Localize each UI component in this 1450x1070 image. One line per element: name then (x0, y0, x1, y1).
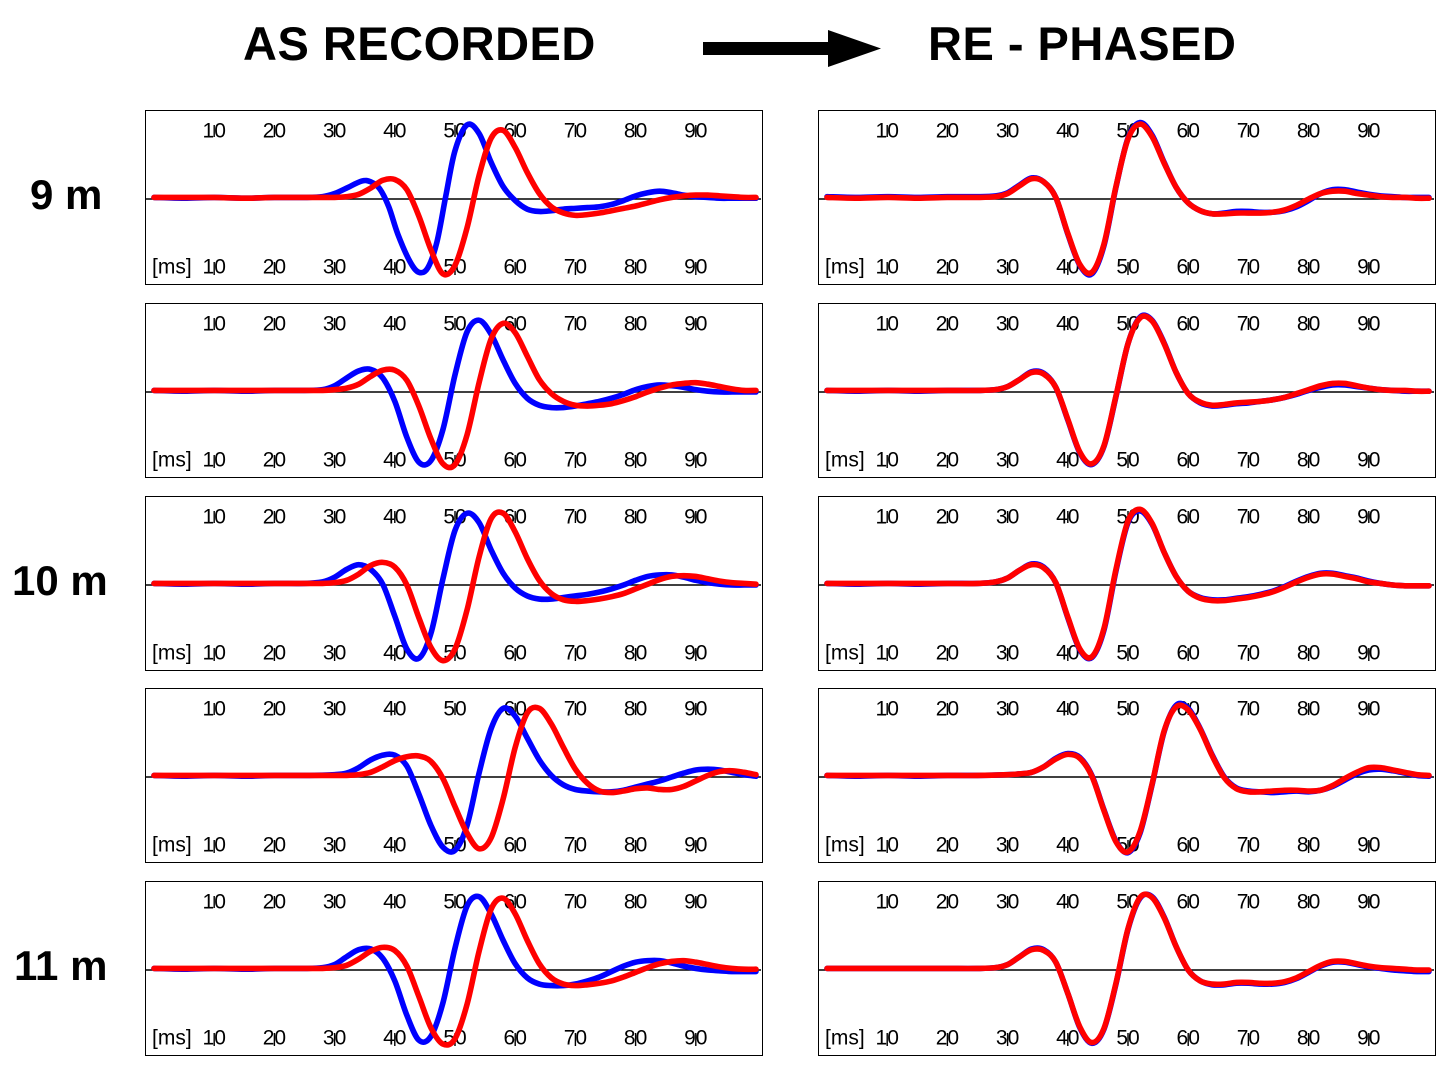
figure-header: AS RECORDED RE - PHASED (0, 0, 1450, 100)
tick-label-bottom-10: 10 (203, 642, 226, 665)
tick-label-bottom-80: 80 (1297, 256, 1320, 279)
axis-unit-label: [ms] (825, 1027, 865, 1050)
tick-label-bottom-60: 60 (504, 256, 527, 279)
tick-label-bottom-60: 60 (1177, 834, 1200, 857)
tick-label-bottom-40: 40 (1056, 1027, 1079, 1050)
tick-label-bottom-90: 90 (684, 256, 707, 279)
tick-label-top-60: 60 (1177, 313, 1200, 336)
tick-label-top-30: 30 (323, 698, 346, 721)
tick-label-top-90: 90 (684, 120, 707, 143)
tick-label-bottom-30: 30 (323, 834, 346, 857)
tick-label-top-10: 10 (203, 891, 226, 914)
tick-label-top-70: 70 (564, 698, 587, 721)
tick-label-bottom-90: 90 (1357, 256, 1380, 279)
tick-label-top-50: 50 (1116, 698, 1139, 721)
tick-label-top-40: 40 (1056, 313, 1079, 336)
tick-label-top-50: 50 (443, 313, 466, 336)
tick-label-bottom-10: 10 (876, 449, 899, 472)
tick-label-top-70: 70 (564, 891, 587, 914)
tick-label-bottom-40: 40 (383, 834, 406, 857)
tick-label-bottom-10: 10 (203, 449, 226, 472)
tick-label-top-10: 10 (203, 120, 226, 143)
tick-label-top-60: 60 (1177, 506, 1200, 529)
tick-label-top-70: 70 (564, 313, 587, 336)
tick-label-bottom-10: 10 (203, 256, 226, 279)
tick-label-top-10: 10 (203, 506, 226, 529)
tick-label-bottom-10: 10 (876, 1027, 899, 1050)
tick-label-bottom-20: 20 (936, 834, 959, 857)
axis-unit-label: [ms] (825, 642, 865, 665)
tick-label-top-10: 10 (876, 120, 899, 143)
tick-label-bottom-50: 50 (1116, 1027, 1139, 1050)
tick-label-top-40: 40 (1056, 506, 1079, 529)
axis-unit-label: [ms] (152, 1027, 192, 1050)
tick-label-bottom-30: 30 (996, 834, 1019, 857)
tick-label-top-90: 90 (684, 698, 707, 721)
tick-label-top-30: 30 (996, 891, 1019, 914)
tick-label-top-40: 40 (383, 313, 406, 336)
tick-label-bottom-80: 80 (1297, 834, 1320, 857)
tick-label-bottom-40: 40 (1056, 834, 1079, 857)
tick-label-top-10: 10 (203, 698, 226, 721)
trace-red (827, 894, 1429, 1042)
tick-label-top-80: 80 (1297, 313, 1320, 336)
trace-panel-r3-re-phased: 102030405060708090102030405060708090[ms] (818, 496, 1436, 671)
tick-label-bottom-20: 20 (936, 642, 959, 665)
tick-label-bottom-40: 40 (1056, 449, 1079, 472)
tick-label-bottom-30: 30 (996, 642, 1019, 665)
tick-label-top-20: 20 (263, 313, 286, 336)
tick-label-bottom-10: 10 (203, 834, 226, 857)
tick-label-top-80: 80 (1297, 506, 1320, 529)
tick-label-top-90: 90 (1357, 120, 1380, 143)
trace-panel-r1-re-phased: 102030405060708090102030405060708090[ms] (818, 110, 1436, 285)
tick-label-top-80: 80 (624, 313, 647, 336)
tick-label-bottom-10: 10 (876, 642, 899, 665)
tick-label-bottom-20: 20 (936, 1027, 959, 1050)
tick-label-bottom-60: 60 (504, 1027, 527, 1050)
row-label-10m: 10 m (12, 560, 108, 602)
tick-label-top-30: 30 (323, 891, 346, 914)
tick-label-bottom-90: 90 (1357, 834, 1380, 857)
trace-panel-r5-as-recorded: 102030405060708090102030405060708090[ms] (145, 881, 763, 1056)
tick-label-top-50: 50 (443, 698, 466, 721)
tick-label-bottom-90: 90 (684, 834, 707, 857)
tick-label-top-90: 90 (1357, 891, 1380, 914)
trace-panel-r2-re-phased: 102030405060708090102030405060708090[ms] (818, 303, 1436, 478)
tick-label-bottom-60: 60 (1177, 642, 1200, 665)
tick-label-bottom-80: 80 (624, 256, 647, 279)
tick-label-bottom-90: 90 (684, 1027, 707, 1050)
tick-label-bottom-70: 70 (1237, 642, 1260, 665)
trace-panel-r3-as-recorded: 102030405060708090102030405060708090[ms] (145, 496, 763, 671)
tick-label-top-60: 60 (1177, 891, 1200, 914)
tick-label-bottom-10: 10 (876, 834, 899, 857)
trace-red (827, 316, 1429, 464)
tick-label-top-30: 30 (996, 120, 1019, 143)
tick-label-top-80: 80 (624, 506, 647, 529)
tick-label-top-80: 80 (624, 120, 647, 143)
tick-label-top-10: 10 (876, 891, 899, 914)
trace-red (154, 323, 756, 467)
tick-label-top-60: 60 (1177, 120, 1200, 143)
tick-label-bottom-20: 20 (936, 449, 959, 472)
tick-label-top-90: 90 (1357, 506, 1380, 529)
tick-label-top-90: 90 (684, 313, 707, 336)
tick-label-bottom-70: 70 (564, 642, 587, 665)
trace-panel-r4-re-phased: 102030405060708090102030405060708090[ms] (818, 688, 1436, 863)
tick-label-top-80: 80 (624, 698, 647, 721)
tick-label-bottom-20: 20 (263, 256, 286, 279)
tick-label-bottom-40: 40 (383, 256, 406, 279)
tick-label-bottom-60: 60 (1177, 256, 1200, 279)
tick-label-top-90: 90 (684, 506, 707, 529)
tick-label-bottom-70: 70 (564, 1027, 587, 1050)
tick-label-bottom-70: 70 (564, 449, 587, 472)
tick-label-bottom-70: 70 (564, 256, 587, 279)
axis-unit-label: [ms] (152, 642, 192, 665)
tick-label-top-40: 40 (1056, 891, 1079, 914)
tick-label-bottom-50: 50 (1116, 449, 1139, 472)
tick-label-bottom-70: 70 (1237, 834, 1260, 857)
tick-label-top-70: 70 (1237, 313, 1260, 336)
tick-label-bottom-60: 60 (1177, 449, 1200, 472)
tick-label-bottom-30: 30 (323, 449, 346, 472)
axis-unit-label: [ms] (152, 449, 192, 472)
axis-unit-label: [ms] (825, 834, 865, 857)
tick-label-bottom-20: 20 (263, 449, 286, 472)
tick-label-top-10: 10 (203, 313, 226, 336)
tick-label-top-80: 80 (1297, 120, 1320, 143)
tick-label-bottom-60: 60 (504, 449, 527, 472)
tick-label-bottom-10: 10 (876, 256, 899, 279)
tick-label-top-40: 40 (383, 506, 406, 529)
tick-label-top-10: 10 (876, 698, 899, 721)
tick-label-bottom-20: 20 (263, 834, 286, 857)
axis-unit-label: [ms] (825, 256, 865, 279)
tick-label-bottom-20: 20 (263, 1027, 286, 1050)
tick-label-bottom-80: 80 (624, 834, 647, 857)
tick-label-top-30: 30 (996, 313, 1019, 336)
tick-label-top-90: 90 (1357, 698, 1380, 721)
tick-label-bottom-80: 80 (1297, 642, 1320, 665)
tick-label-top-70: 70 (564, 120, 587, 143)
tick-label-bottom-80: 80 (1297, 1027, 1320, 1050)
tick-label-top-20: 20 (263, 506, 286, 529)
trace-panel-r1-as-recorded: 102030405060708090102030405060708090[ms] (145, 110, 763, 285)
tick-label-bottom-20: 20 (263, 642, 286, 665)
tick-label-bottom-60: 60 (1177, 1027, 1200, 1050)
tick-label-bottom-90: 90 (1357, 642, 1380, 665)
as-recorded-title: AS RECORDED (243, 20, 596, 67)
axis-unit-label: [ms] (152, 834, 192, 857)
tick-label-top-20: 20 (263, 698, 286, 721)
tick-label-top-90: 90 (684, 891, 707, 914)
trace-panel-r2-as-recorded: 102030405060708090102030405060708090[ms] (145, 303, 763, 478)
figure-root: AS RECORDED RE - PHASED 9 m 10 m 11 m 10… (0, 0, 1450, 1070)
tick-label-bottom-30: 30 (323, 642, 346, 665)
tick-label-top-80: 80 (1297, 891, 1320, 914)
tick-label-bottom-80: 80 (624, 642, 647, 665)
tick-label-top-70: 70 (1237, 506, 1260, 529)
tick-label-top-30: 30 (996, 506, 1019, 529)
tick-label-top-90: 90 (1357, 313, 1380, 336)
tick-label-bottom-70: 70 (564, 834, 587, 857)
tick-label-bottom-70: 70 (1237, 1027, 1260, 1050)
tick-label-top-70: 70 (1237, 891, 1260, 914)
tick-label-bottom-90: 90 (1357, 1027, 1380, 1050)
tick-label-top-20: 20 (263, 891, 286, 914)
tick-label-top-10: 10 (876, 506, 899, 529)
tick-label-top-40: 40 (383, 698, 406, 721)
tick-label-top-30: 30 (323, 313, 346, 336)
tick-label-top-80: 80 (624, 891, 647, 914)
tick-label-bottom-40: 40 (383, 1027, 406, 1050)
right-arrow-icon (703, 28, 883, 70)
trace-panel-r4-as-recorded: 102030405060708090102030405060708090[ms] (145, 688, 763, 863)
tick-label-bottom-70: 70 (1237, 256, 1260, 279)
tick-label-top-30: 30 (996, 698, 1019, 721)
tick-label-top-20: 20 (936, 120, 959, 143)
trace-panel-r5-re-phased: 102030405060708090102030405060708090[ms] (818, 881, 1436, 1056)
re-phased-title: RE - PHASED (928, 20, 1236, 67)
trace-blue (154, 708, 756, 852)
tick-label-bottom-60: 60 (504, 834, 527, 857)
tick-label-top-20: 20 (936, 506, 959, 529)
tick-label-bottom-20: 20 (936, 256, 959, 279)
row-label-9m: 9 m (30, 174, 102, 216)
tick-label-bottom-50: 50 (1116, 642, 1139, 665)
tick-label-top-30: 30 (323, 506, 346, 529)
tick-label-top-10: 10 (876, 313, 899, 336)
tick-label-top-40: 40 (1056, 120, 1079, 143)
axis-unit-label: [ms] (152, 256, 192, 279)
tick-label-bottom-50: 50 (1116, 256, 1139, 279)
tick-label-bottom-10: 10 (203, 1027, 226, 1050)
tick-label-top-20: 20 (936, 698, 959, 721)
tick-label-top-30: 30 (323, 120, 346, 143)
tick-label-bottom-70: 70 (1237, 449, 1260, 472)
tick-label-top-40: 40 (383, 120, 406, 143)
tick-label-bottom-30: 30 (996, 1027, 1019, 1050)
row-label-11m: 11 m (14, 945, 107, 987)
tick-label-bottom-30: 30 (996, 256, 1019, 279)
tick-label-bottom-80: 80 (624, 449, 647, 472)
tick-label-top-20: 20 (936, 891, 959, 914)
tick-label-top-40: 40 (1056, 698, 1079, 721)
tick-label-bottom-30: 30 (996, 449, 1019, 472)
tick-label-bottom-90: 90 (1357, 449, 1380, 472)
tick-label-top-70: 70 (1237, 120, 1260, 143)
tick-label-bottom-30: 30 (323, 256, 346, 279)
tick-label-bottom-90: 90 (684, 449, 707, 472)
tick-label-top-20: 20 (263, 120, 286, 143)
tick-label-top-40: 40 (383, 891, 406, 914)
axis-unit-label: [ms] (825, 449, 865, 472)
tick-label-bottom-80: 80 (624, 1027, 647, 1050)
tick-label-top-70: 70 (1237, 698, 1260, 721)
tick-label-top-70: 70 (564, 506, 587, 529)
tick-label-bottom-30: 30 (323, 1027, 346, 1050)
tick-label-top-80: 80 (1297, 698, 1320, 721)
tick-label-bottom-60: 60 (504, 642, 527, 665)
tick-label-bottom-90: 90 (684, 642, 707, 665)
tick-label-bottom-40: 40 (383, 449, 406, 472)
tick-label-top-20: 20 (936, 313, 959, 336)
tick-label-bottom-80: 80 (1297, 449, 1320, 472)
